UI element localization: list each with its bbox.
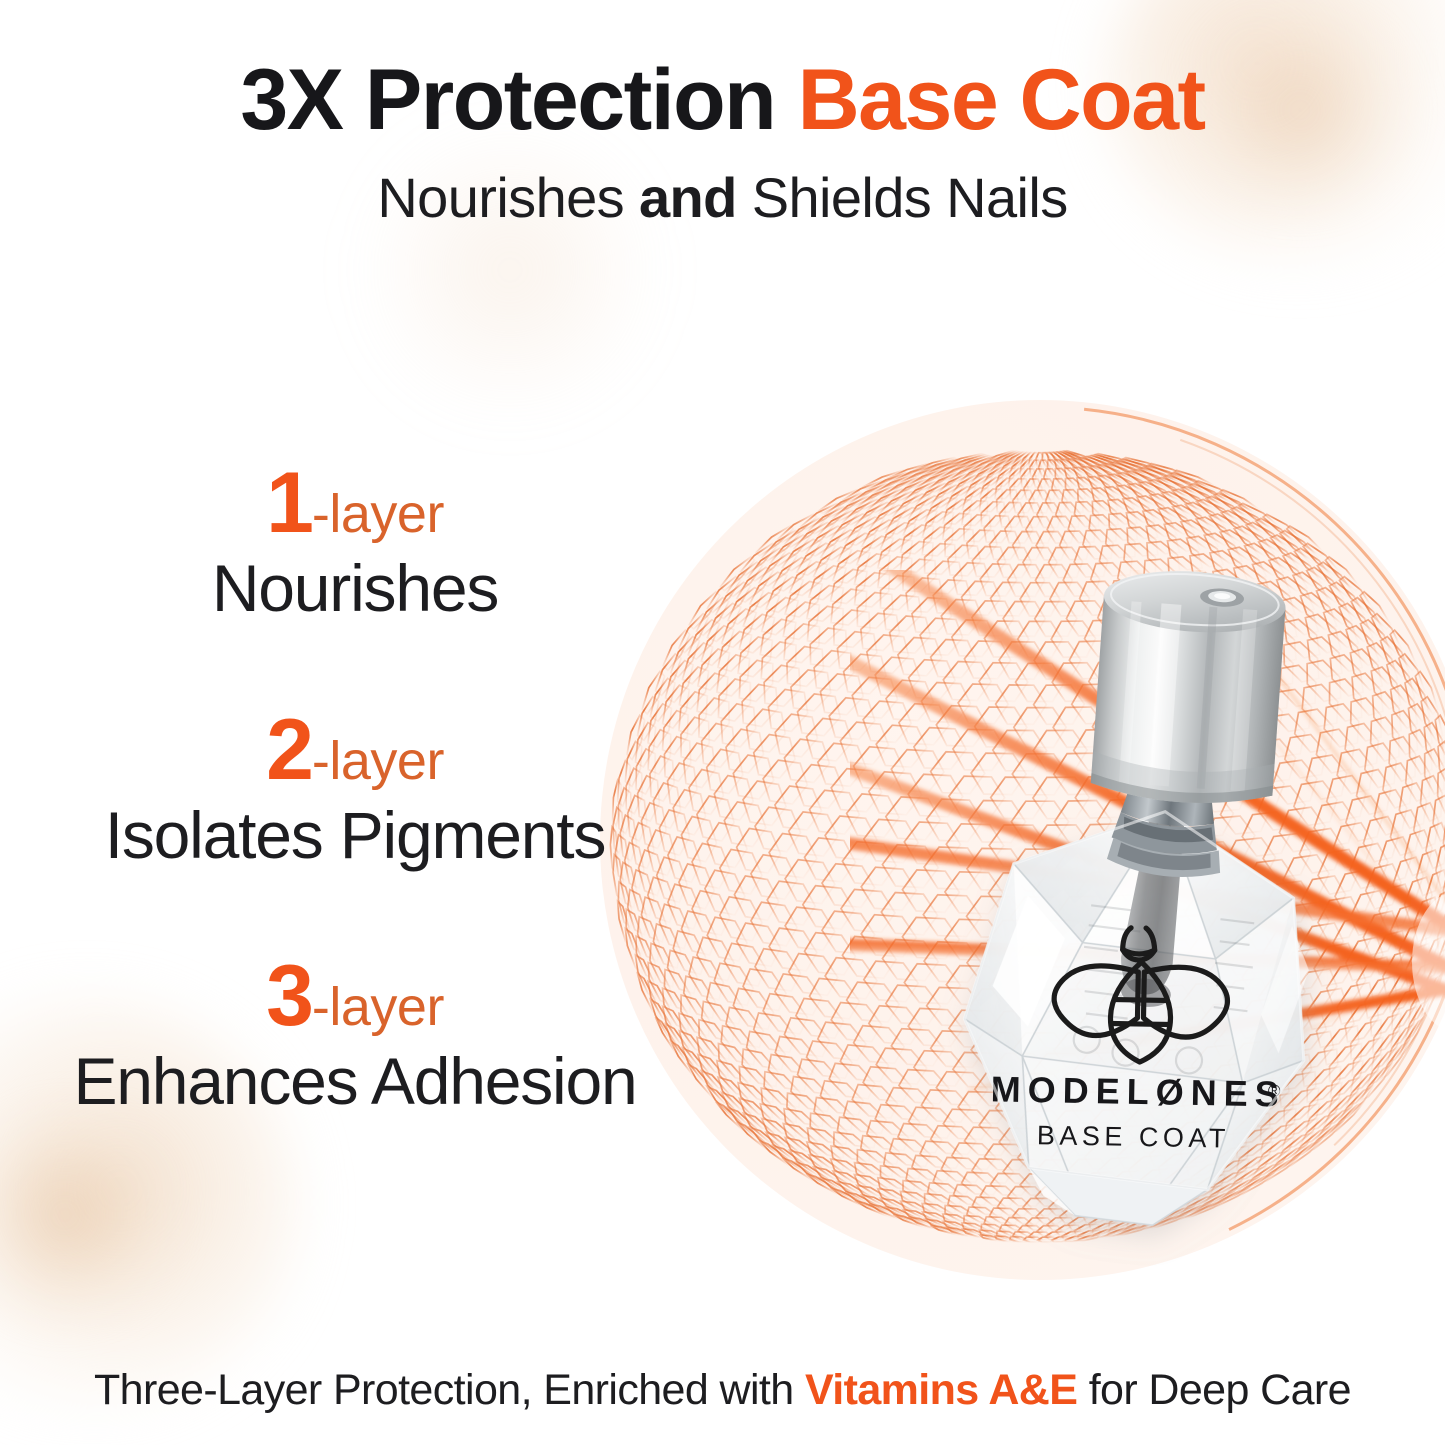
list-item: 3-layer Enhances Adhesion — [0, 953, 710, 1118]
subhead-part-2: Shields Nails — [737, 166, 1068, 229]
feature-list: 1-layer Nourishes 2-layer Isolates Pigme… — [0, 460, 710, 1118]
background-blob-center-left — [360, 120, 660, 420]
honeycomb-mesh-icon — [600, 400, 1445, 1280]
feature-layer-label: -layer — [312, 484, 444, 544]
headline-accent: Base Coat — [798, 52, 1205, 148]
brand-name: MODELØNES ® BASE COAT — [990, 1068, 1286, 1154]
bottle-glass-body — [942, 790, 1332, 1241]
page-subtitle: Nourishes and Shields Nails — [0, 167, 1445, 229]
subhead-bold: and — [639, 166, 737, 229]
background-blob-bottom-left-inner — [0, 1105, 180, 1325]
feature-layer-label: -layer — [312, 977, 444, 1037]
brand-emblem-icon — [1053, 927, 1229, 1064]
footer-part-2: for Deep Care — [1077, 1366, 1351, 1414]
product-infographic: 3X Protection Base Coat Nourishes and Sh… — [0, 0, 1445, 1445]
brand-name-text: MODELØNES — [990, 1068, 1286, 1114]
product-bottle-image: MODELØNES ® BASE COAT — [880, 480, 1400, 1340]
footer-accent: Vitamins A&E — [805, 1366, 1077, 1414]
feature-number: 3 — [266, 948, 312, 1044]
footer-caption: Three-Layer Protection, Enriched with Vi… — [0, 1366, 1445, 1415]
feature-layer-line: 1-layer — [0, 460, 710, 546]
list-item: 1-layer Nourishes — [0, 460, 710, 625]
bottle-front-label: MODELØNES ® BASE COAT — [990, 925, 1289, 1154]
registered-mark: ® — [1268, 1081, 1281, 1100]
bottle-neck — [1106, 776, 1231, 883]
feature-description: Enhances Adhesion — [0, 1045, 710, 1118]
feature-number: 1 — [266, 455, 312, 551]
footer-part-1: Three-Layer Protection, Enriched with — [94, 1366, 805, 1414]
shield-sphere-fill — [600, 400, 1445, 1280]
feature-description: Isolates Pigments — [0, 799, 710, 872]
product-type-text: BASE COAT — [1037, 1120, 1231, 1153]
feature-number: 2 — [266, 702, 312, 798]
deflected-rays-icon — [850, 570, 1445, 1130]
feature-description: Nourishes — [0, 552, 710, 625]
bottle-back-label-ghost — [1070, 903, 1258, 1080]
feature-layer-label: -layer — [312, 731, 444, 791]
bottle-cap — [1090, 565, 1288, 808]
headline-part-1: 3X Protection — [240, 52, 797, 148]
shield-sphere-rim-glow — [600, 400, 1445, 1280]
protection-shield-graphic — [600, 400, 1445, 1300]
feature-layer-line: 3-layer — [0, 953, 710, 1039]
subhead-part-1: Nourishes — [377, 166, 639, 229]
page-title: 3X Protection Base Coat — [0, 54, 1445, 147]
feature-layer-line: 2-layer — [0, 707, 710, 793]
bottle-brush — [1115, 807, 1193, 1010]
list-item: 2-layer Isolates Pigments — [0, 707, 710, 872]
